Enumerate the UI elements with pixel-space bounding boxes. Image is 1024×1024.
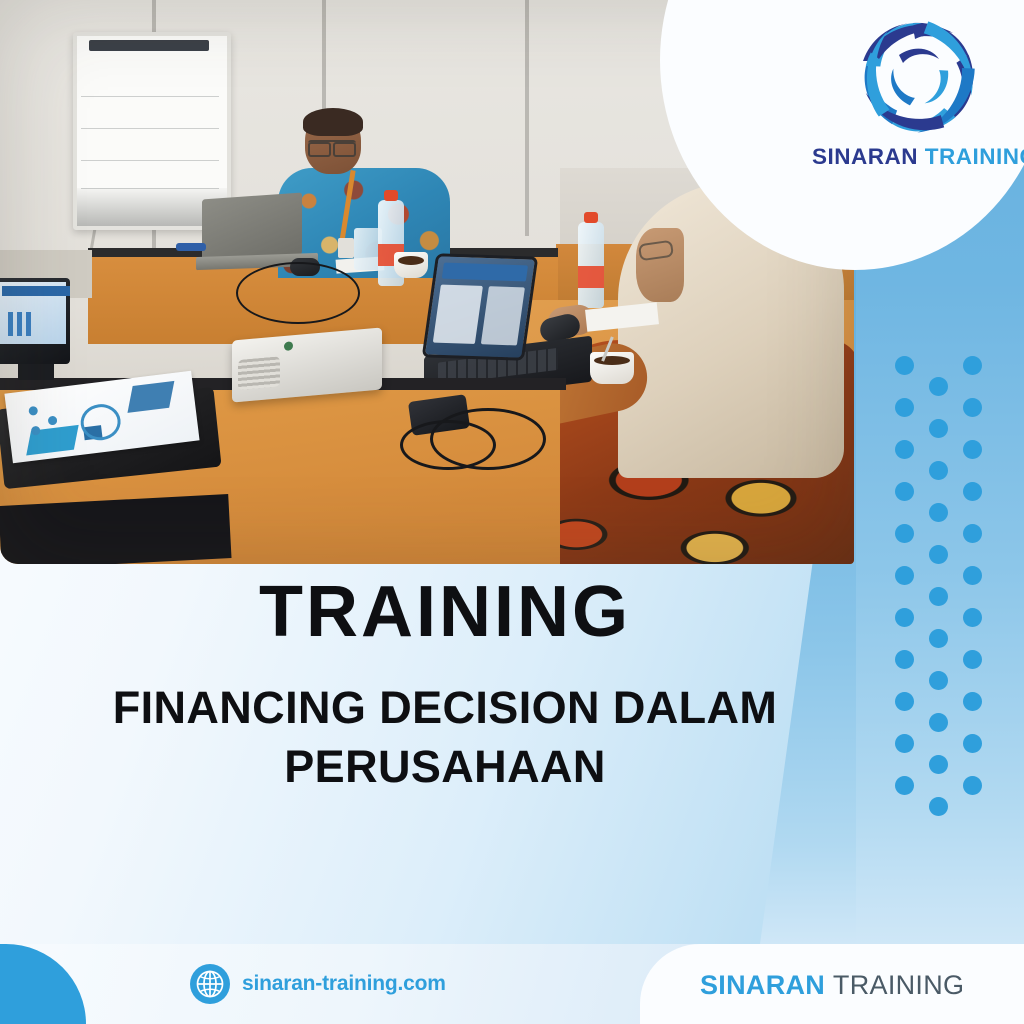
decorative-dot: [895, 650, 914, 669]
decorative-dot: [895, 692, 914, 711]
page-title: TRAINING: [0, 576, 890, 648]
decorative-dot: [963, 356, 982, 375]
brand-logo: SINARAN TRAINING: [812, 8, 1022, 188]
footer-brand-secondary: TRAINING: [833, 970, 964, 1000]
decorative-dot: [929, 419, 948, 438]
decorative-dot: [963, 692, 982, 711]
page-subtitle: FINANCING DECISION DALAM PERUSAHAAN: [0, 678, 890, 797]
footer-brand-primary: SINARAN: [700, 970, 825, 1000]
decorative-dot: [895, 524, 914, 543]
decorative-dot: [963, 524, 982, 543]
decorative-dot: [929, 377, 948, 396]
decorative-dot: [929, 629, 948, 648]
decorative-dot: [895, 440, 914, 459]
poster-canvas: SINARAN TRAINING: [0, 0, 1024, 1024]
footer-brand: SINARAN TRAINING: [700, 970, 964, 1001]
decorative-dot: [929, 545, 948, 564]
globe-icon: [190, 964, 230, 1004]
brand-name: SINARAN TRAINING: [812, 144, 1022, 170]
website-link[interactable]: sinaran-training.com: [190, 964, 446, 1004]
brand-name-secondary: TRAINING: [925, 144, 1024, 169]
decorative-dot: [929, 461, 948, 480]
headline-block: TRAINING FINANCING DECISION DALAM PERUSA…: [0, 576, 890, 797]
decorative-dot: [963, 608, 982, 627]
decorative-dot: [963, 566, 982, 585]
decorative-dot: [929, 671, 948, 690]
decorative-dot: [895, 776, 914, 795]
decorative-dot: [895, 398, 914, 417]
decorative-dot: [895, 734, 914, 753]
decorative-dot: [963, 440, 982, 459]
decorative-dot: [963, 650, 982, 669]
footer-bar: sinaran-training.com SINARAN TRAINING: [0, 944, 1024, 1024]
dot-pattern-decoration: [895, 356, 1005, 824]
footer-corner-accent: [0, 944, 86, 1024]
decorative-dot: [929, 797, 948, 816]
decorative-dot: [895, 356, 914, 375]
website-url: sinaran-training.com: [242, 972, 446, 996]
decorative-dot: [895, 608, 914, 627]
decorative-dot: [929, 587, 948, 606]
decorative-dot: [963, 482, 982, 501]
page-subtitle-line2: PERUSAHAAN: [0, 737, 890, 796]
decorative-dot: [895, 566, 914, 585]
decorative-dot: [895, 482, 914, 501]
decorative-dot: [963, 776, 982, 795]
decorative-dot: [963, 734, 982, 753]
decorative-dot: [963, 398, 982, 417]
decorative-dot: [929, 503, 948, 522]
decorative-dot: [929, 755, 948, 774]
decorative-dot: [929, 713, 948, 732]
page-subtitle-line1: FINANCING DECISION DALAM: [0, 678, 890, 737]
brand-name-primary: SINARAN: [812, 144, 918, 169]
swirl-logo-icon: [852, 10, 986, 144]
